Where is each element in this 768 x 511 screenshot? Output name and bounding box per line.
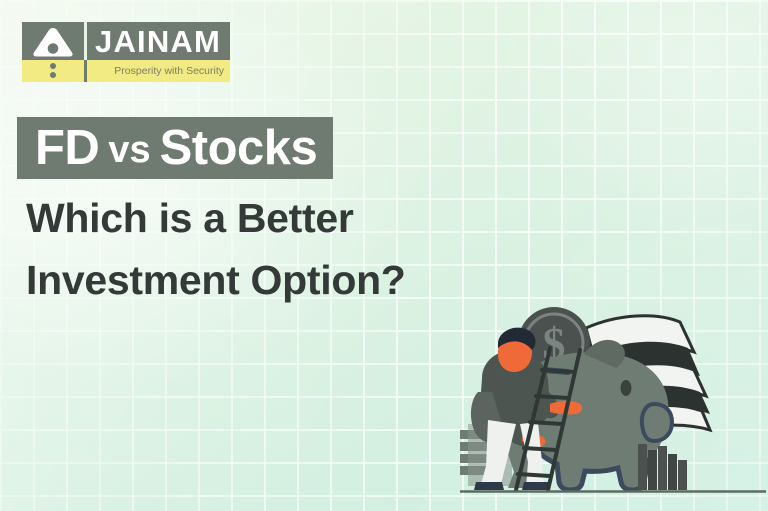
triangle-with-circle-icon [31,26,75,63]
logo-bottom-row: Prosperity with Security [22,60,230,82]
poster-canvas: JAINAM Prosperity with Security FD vs St… [0,0,768,511]
two-dots-icon [50,63,56,78]
coin-stack-icon [638,444,687,490]
headline-banner: FD vs Stocks [17,117,333,179]
brand-tagline: Prosperity with Security [114,66,224,77]
logo-tagline: Prosperity with Security [87,60,230,82]
headline-term-second: Stocks [160,124,318,173]
illustration-man-climbing-ladder-to-piggy-bank: $ [458,296,768,511]
brand-name: JAINAM [95,26,221,57]
headline-term-first: FD [35,124,99,173]
headline-subtitle: Which is a Better Investment Option? [26,188,546,311]
logo-wordmark: JAINAM [87,22,230,60]
subtitle-line-1: Which is a Better [26,188,546,250]
brand-logo[interactable]: JAINAM Prosperity with Security [22,22,230,82]
logo-dots-column [22,60,84,82]
logo-mark-column [22,22,84,60]
headline-connector: vs [108,131,150,169]
logo-top-row: JAINAM [22,22,230,60]
